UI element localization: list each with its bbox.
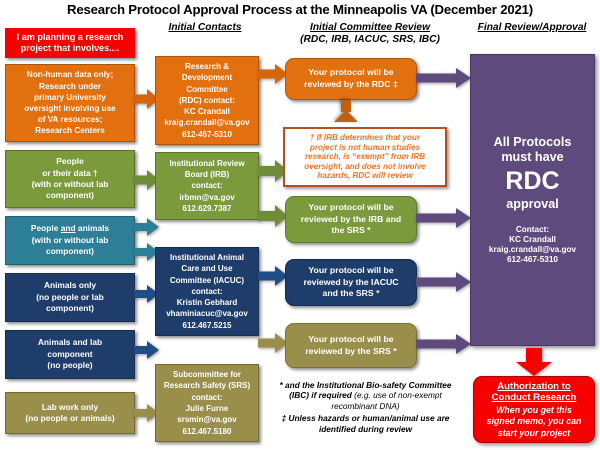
contact-box-rdc-label: Research &DevelopmentCommittee(RDC) cont… bbox=[156, 61, 258, 140]
footnote-ibc: * and the Institutional Bio-safety Commi… bbox=[258, 380, 473, 411]
arrow-final-to-authorization bbox=[516, 348, 552, 376]
authorization-body-line3: start your project bbox=[498, 428, 570, 438]
irb-note-text: † If IRB determines that yourproject is … bbox=[301, 133, 428, 181]
authorization-body-line1: When you get this bbox=[496, 405, 572, 415]
review-box-irb-srs: Your protocol will bereviewed by the IRB… bbox=[285, 196, 417, 243]
contact-box-srs: Subcommittee forResearch Safety (SRS)con… bbox=[155, 364, 259, 442]
final-approval-contact-name: KC Crandall bbox=[489, 235, 576, 245]
category-box-people-and-animals: People and animals(with or without labco… bbox=[5, 216, 135, 265]
column-header-initial-committee-review: Initial Committee Review (RDC, IRB, IACU… bbox=[275, 22, 465, 45]
arrow-srs-review-to-final bbox=[416, 334, 471, 354]
category-box-lab-work-only: Lab work only(no people or animals) bbox=[5, 392, 135, 434]
contact-box-rdc: Research &DevelopmentCommittee(RDC) cont… bbox=[155, 56, 259, 145]
review-box-rdc: Your protocol will bereviewed by the RDC… bbox=[285, 58, 417, 100]
arrow-irb-contact-to-irb-review bbox=[258, 205, 288, 227]
column-header-final-review-label: Final Review/Approval bbox=[478, 22, 587, 33]
arrow-note-to-rdc-review bbox=[334, 100, 358, 122]
review-box-iacuc-srs-label: Your protocol will bereviewed by the IAC… bbox=[286, 265, 416, 300]
final-approval-line1: All Protocols bbox=[494, 135, 572, 150]
category-box-lab-work-only-label: Lab work only(no people or animals) bbox=[6, 402, 134, 425]
flowchart-canvas: Research Protocol Approval Process at th… bbox=[0, 0, 600, 450]
review-box-srs-label: Your protocol will bereviewed by the SRS… bbox=[286, 334, 416, 357]
contact-box-srs-label: Subcommittee forResearch Safety (SRS)con… bbox=[156, 369, 258, 437]
column-header-initial-committee-review-label: Initial Committee Review bbox=[310, 22, 430, 33]
final-approval-contact-phone: 612-467-5310 bbox=[489, 255, 576, 265]
category-box-animals-and-lab: Animals and labcomponent(no people) bbox=[5, 330, 135, 379]
category-box-animals-only-label: Animals only(no people or labcomponent) bbox=[6, 280, 134, 314]
arrow-iacuc-contact-to-iacuc-review bbox=[258, 266, 288, 286]
final-approval-rdc: RDC bbox=[505, 167, 559, 196]
contact-box-irb: Institutional ReviewBoard (IRB)contact:i… bbox=[155, 152, 259, 220]
arrow-iacuc-review-to-final bbox=[416, 272, 471, 292]
authorization-heading-line1: Authorization to bbox=[497, 381, 571, 393]
page-title: Research Protocol Approval Process at th… bbox=[0, 2, 600, 17]
arrow-rdc-review-to-final bbox=[416, 68, 471, 88]
start-box: I am planning a research project that in… bbox=[5, 28, 135, 58]
contact-box-iacuc: Institutional AnimalCare and UseCommitte… bbox=[155, 247, 259, 336]
arrow-srs-contact-to-srs-review bbox=[258, 333, 288, 353]
review-box-srs: Your protocol will bereviewed by the SRS… bbox=[285, 323, 417, 368]
category-box-people-and-animals-label: People and animals(with or without labco… bbox=[6, 223, 134, 257]
authorization-body-line2: signed memo, you can bbox=[487, 416, 582, 426]
category-box-non-human-data-label: Non-human data only;Research underprimar… bbox=[6, 69, 134, 136]
arrow-people-animals-to-irb bbox=[134, 218, 159, 236]
column-header-initial-contacts: Initial Contacts bbox=[150, 22, 260, 34]
contact-box-iacuc-label: Institutional AnimalCare and UseCommitte… bbox=[156, 252, 258, 331]
final-approval-line3: approval bbox=[506, 197, 559, 212]
review-box-iacuc-srs: Your protocol will bereviewed by the IAC… bbox=[285, 259, 417, 306]
final-approval-contact: Contact: KC Crandall kraig.crandall@va.g… bbox=[489, 225, 576, 266]
irb-note-callout: † If IRB determines that yourproject is … bbox=[283, 127, 447, 187]
start-box-label: I am planning a research project that in… bbox=[5, 32, 135, 54]
column-header-initial-contacts-label: Initial Contacts bbox=[168, 22, 241, 33]
category-box-non-human-data: Non-human data only;Research underprimar… bbox=[5, 64, 135, 142]
arrow-animals-lab-to-iacuc bbox=[134, 341, 159, 359]
category-box-people: Peopleor their data †(with or without la… bbox=[5, 150, 135, 208]
authorization-box: Authorization to Conduct Research When y… bbox=[473, 376, 595, 443]
footnotes-block: * and the Institutional Bio-safety Commi… bbox=[258, 380, 473, 434]
contact-box-irb-label: Institutional ReviewBoard (IRB)contact:i… bbox=[156, 158, 258, 214]
final-approval-contact-email: kraig.crandall@va.gov bbox=[489, 245, 576, 255]
final-approval-box: All Protocols must have RDC approval Con… bbox=[470, 54, 595, 346]
column-header-initial-committee-review-sub: (RDC, IRB, IACUC, SRS, IBC) bbox=[275, 34, 465, 46]
review-box-rdc-label: Your protocol will bereviewed by the RDC… bbox=[286, 67, 416, 90]
column-header-final-review: Final Review/Approval bbox=[466, 22, 598, 34]
final-approval-line2: must have bbox=[501, 150, 563, 165]
review-box-irb-srs-label: Your protocol will bereviewed by the IRB… bbox=[286, 202, 416, 237]
category-box-people-label: Peopleor their data †(with or without la… bbox=[6, 156, 134, 202]
footnote-hazards: ‡ Unless hazards or human/animal use are… bbox=[258, 413, 473, 434]
arrow-rdc-contact-to-rdc-review bbox=[258, 64, 288, 84]
final-approval-contact-label: Contact: bbox=[489, 225, 576, 235]
category-box-animals-and-lab-label: Animals and labcomponent(no people) bbox=[6, 337, 134, 371]
authorization-heading-line2: Conduct Research bbox=[492, 392, 577, 404]
category-box-animals-only: Animals only(no people or labcomponent) bbox=[5, 273, 135, 322]
arrow-irb-review-to-final bbox=[416, 208, 471, 228]
